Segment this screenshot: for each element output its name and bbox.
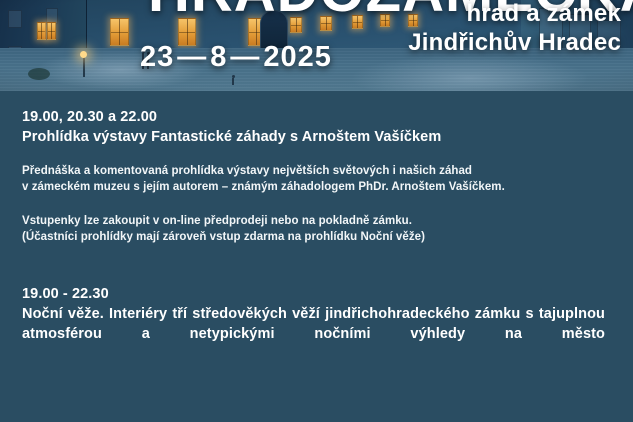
- program-description: Přednáška a komentovaná prohlídka výstav…: [22, 163, 617, 195]
- date-month: 8: [210, 41, 227, 73]
- date-separator-1: —: [174, 41, 210, 74]
- venue-title: hrad a zámek Jindřichův Hradec: [321, 0, 621, 58]
- program-notes: Vstupenky lze zakoupit v on-line předpro…: [22, 213, 617, 245]
- spacer: [22, 245, 617, 285]
- poster-root: HRADOZÁMECKÁ NOC 23—8—2025 hrad a zámek …: [0, 0, 633, 422]
- hero-header-image: HRADOZÁMECKÁ NOC 23—8—2025 hrad a zámek …: [0, 0, 633, 91]
- person-silhouette: [232, 78, 234, 85]
- venue-line-2: Jindřichův Hradec: [321, 28, 621, 58]
- venue-line-1: hrad a zámek: [321, 0, 621, 28]
- program-title: Prohlídka výstavy Fantastické záhady s A…: [22, 127, 617, 147]
- description-line: Přednáška a komentovaná prohlídka výstav…: [22, 163, 617, 179]
- spacer: [22, 147, 617, 163]
- date-separator-2: —: [227, 41, 263, 74]
- lit-window: [47, 22, 56, 40]
- program-item: 19.00 - 22.30 Noční věže. Interiéry tří …: [22, 285, 617, 364]
- program-time: 19.00, 20.30 a 22.00: [22, 108, 617, 127]
- program-content: 19.00, 20.30 a 22.00 Prohlídka výstavy F…: [0, 91, 633, 364]
- notes-line: Vstupenky lze zakoupit v on-line předpro…: [22, 213, 617, 229]
- planter: [28, 68, 50, 80]
- lit-window: [110, 18, 129, 46]
- lit-window: [37, 22, 46, 40]
- dark-window: [8, 10, 22, 28]
- description-line: v zámeckém muzeu s jejím autorem – známý…: [22, 179, 617, 195]
- spacer: [22, 91, 617, 108]
- date-day: 23: [140, 41, 174, 73]
- program-time: 19.00 - 22.30: [22, 285, 617, 304]
- program-title: Noční věže. Interiéry tří středověkých v…: [22, 304, 617, 364]
- spacer: [22, 195, 617, 213]
- event-date: 23—8—2025: [140, 41, 332, 74]
- program-item: 19.00, 20.30 a 22.00 Prohlídka výstavy F…: [22, 108, 617, 245]
- lamp-light: [80, 51, 87, 58]
- lamp-post: [83, 57, 85, 77]
- notes-line: (Účastníci prohlídky mají zároveň vstup …: [22, 229, 617, 245]
